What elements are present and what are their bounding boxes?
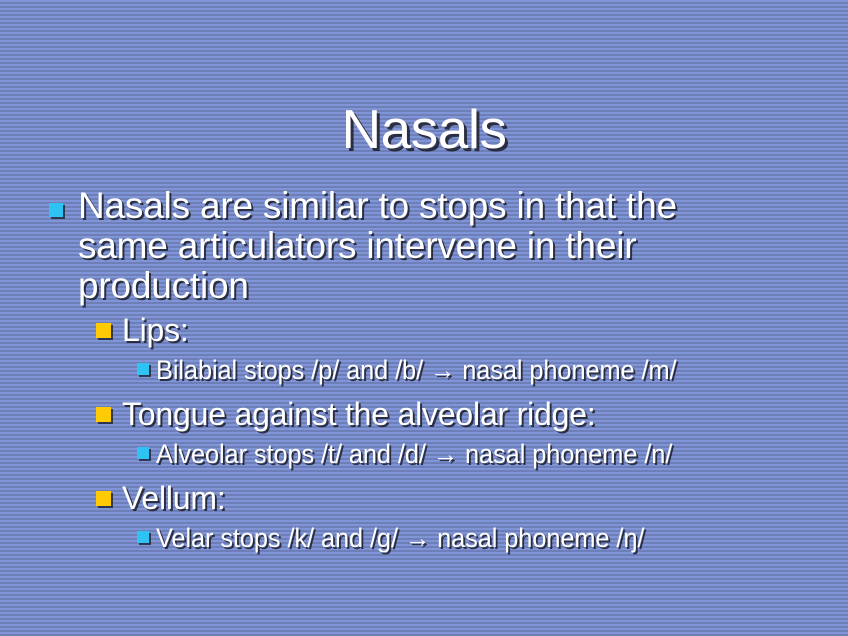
list-item-label: Alveolar stops /t/ and /d/ → nasal phone… — [156, 434, 806, 474]
slide-title-placeholder: Nasals — [0, 62, 848, 196]
presentation-slide: Nasals Nasals are similar to stops in th… — [0, 0, 848, 636]
square-bullet-gold-icon — [96, 323, 111, 338]
page-title: Nasals — [341, 99, 506, 159]
list-item-label: Vellum: — [122, 478, 848, 518]
square-bullet-cyan-icon — [137, 447, 149, 459]
list-item: Tongue against the alveolar ridge: — [0, 394, 848, 434]
list-item-label: Nasals are similar to stops in that the … — [78, 186, 728, 306]
square-bullet-gold-icon — [96, 491, 111, 506]
list-item: Lips: — [0, 310, 848, 350]
list-item: Velar stops /k/ and /g/ → nasal phoneme … — [0, 518, 848, 558]
square-bullet-gold-icon — [96, 407, 111, 422]
list-item-label: Velar stops /k/ and /g/ → nasal phoneme … — [156, 518, 806, 558]
list-item: Alveolar stops /t/ and /d/ → nasal phone… — [0, 434, 848, 474]
square-bullet-cyan-icon — [137, 531, 149, 543]
list-item: Bilabial stops /p/ and /b/ → nasal phone… — [0, 350, 848, 390]
list-item: Vellum: — [0, 478, 848, 518]
list-item-label: Lips: — [122, 310, 848, 350]
slide-body-placeholder: Nasals are similar to stops in that the … — [0, 186, 848, 558]
square-bullet-cyan-icon — [137, 363, 149, 375]
list-item-label: Bilabial stops /p/ and /b/ → nasal phone… — [156, 350, 806, 390]
list-item-label: Tongue against the alveolar ridge: — [122, 394, 848, 434]
square-bullet-cyan-icon — [49, 203, 63, 217]
list-item: Nasals are similar to stops in that the … — [0, 186, 848, 306]
